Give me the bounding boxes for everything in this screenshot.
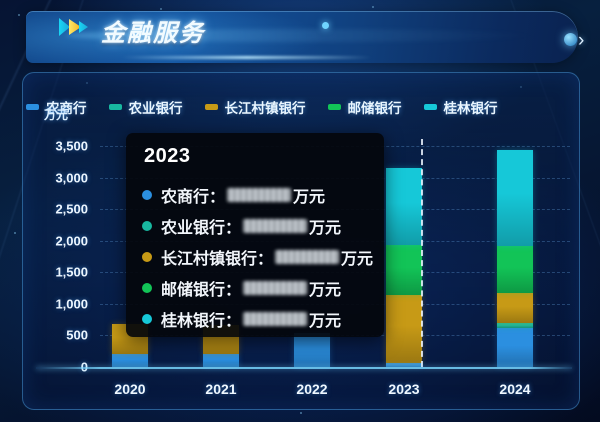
tooltip-rows: 农商行：万元农业银行：万元长江村镇银行：万元邮储银行：万元桂林银行：万元 [142, 179, 376, 334]
tooltip-series-dot [142, 221, 152, 231]
tooltip-row: 桂林银行：万元 [142, 303, 376, 334]
tooltip-series-value-masked [243, 281, 307, 295]
tooltip-series-unit: 万元 [309, 214, 341, 238]
tooltip-series-value-masked [275, 250, 339, 264]
tooltip-series-unit: 万元 [309, 307, 341, 331]
tooltip-row: 长江村镇银行：万元 [142, 241, 376, 272]
tooltip-series-label: 邮储银行： [161, 276, 241, 300]
tooltip-series-label: 农业银行： [161, 214, 241, 238]
legend-item-changjiang-cunzhen-yinhang[interactable]: 长江村镇银行 [205, 97, 306, 117]
tooltip-series-unit: 万元 [341, 245, 373, 269]
page-title: 金融服务 [101, 13, 205, 48]
chart-legend: 农商行 农业银行 长江村镇银行 邮储银行 桂林银行 [26, 98, 574, 116]
legend-swatch [205, 104, 218, 110]
chart-tooltip: 2023 农商行：万元农业银行：万元长江村镇银行：万元邮储银行：万元桂林银行：万… [126, 133, 384, 337]
tooltip-series-label: 农商行： [161, 183, 225, 207]
legend-label: 长江村镇银行 [225, 97, 306, 117]
chevron-right-icon[interactable]: › [578, 32, 592, 50]
legend-label: 邮储银行 [348, 97, 402, 117]
legend-item-nongshanghang[interactable]: 农商行 [26, 97, 87, 117]
legend-swatch [26, 104, 39, 110]
tooltip-series-value-masked [243, 312, 307, 326]
banner-underglow [122, 56, 372, 59]
legend-label: 农商行 [46, 97, 87, 117]
tooltip-row: 农业银行：万元 [142, 210, 376, 241]
tooltip-series-dot [142, 190, 152, 200]
legend-label: 农业银行 [129, 97, 183, 117]
tooltip-series-unit: 万元 [309, 276, 341, 300]
tooltip-series-dot [142, 314, 152, 324]
banner-orb-small [322, 22, 329, 29]
tooltip-series-label: 桂林银行： [161, 307, 241, 331]
double-chevron-arrow-icon [59, 16, 89, 38]
tooltip-series-value-masked [243, 219, 307, 233]
legend-label: 桂林银行 [444, 97, 498, 117]
tooltip-series-dot [142, 283, 152, 293]
tooltip-series-unit: 万元 [293, 183, 325, 207]
tooltip-row: 农商行：万元 [142, 179, 376, 210]
tooltip-series-value-masked [227, 188, 291, 202]
legend-swatch [109, 104, 122, 110]
tooltip-title: 2023 [144, 145, 191, 168]
tooltip-series-dot [142, 252, 152, 262]
legend-item-youchu-yinhang[interactable]: 邮储银行 [328, 97, 402, 117]
tooltip-series-label: 长江村镇银行： [161, 245, 273, 269]
banner-orb-large [564, 33, 577, 46]
legend-item-nongye-yinhang[interactable]: 农业银行 [109, 97, 183, 117]
legend-item-guilin-yinhang[interactable]: 桂林银行 [424, 97, 498, 117]
legend-swatch [328, 104, 341, 110]
legend-swatch [424, 104, 437, 110]
tooltip-row: 邮储银行：万元 [142, 272, 376, 303]
